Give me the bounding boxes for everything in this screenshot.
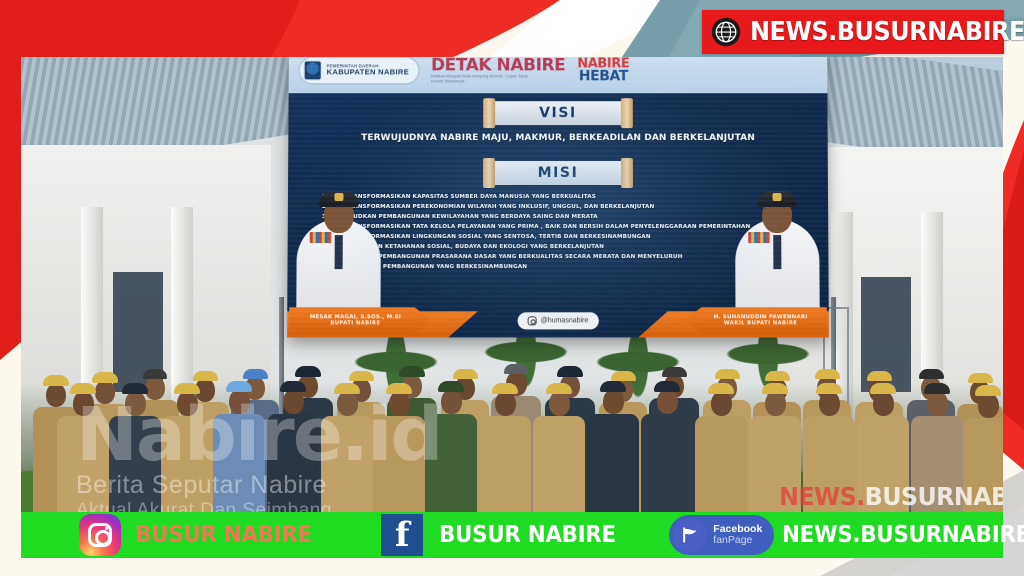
globe-icon	[711, 17, 741, 47]
footer-instagram[interactable]: BUSUR NABIRE	[21, 512, 325, 558]
instagram-icon	[528, 316, 537, 325]
wakil-bupati-portrait	[734, 165, 821, 315]
site-brand-bar: NEWS.BUSURNABIRE.ID	[702, 10, 1004, 54]
fanpage-site-label: NEWS.BUSURNABIRE.ID	[782, 522, 1024, 548]
misi-label: MISI	[538, 165, 579, 181]
instagram-icon[interactable]	[79, 514, 121, 556]
bupati-name-plate: MESAK MAGAI, S.SOS., M.SI BUPATI NABIRE	[289, 307, 432, 333]
wakil-bupati-name-plate: H. SUHANUDDIN PAWENNARI WAKIL BUPATI NAB…	[684, 307, 827, 333]
visi-statement: TERWUJUDNYA NABIRE MAJU, MAKMUR, BERKEAD…	[294, 132, 823, 143]
visi-label: VISI	[539, 105, 577, 121]
misi-item: 5. MENTRANSFORMASIKAN LINGKUNGAN SOSIAL …	[322, 233, 799, 242]
misi-list: 1. MENTRANSFORMASIKAN KAPASITAS SUMBER D…	[322, 193, 799, 273]
facebook-fanpage-icon	[673, 518, 707, 552]
banner-header-strip: PEMERINTAH DAERAH KABUPATEN NABIRE DETAK…	[289, 57, 828, 93]
kabupaten-line2: KABUPATEN NABIRE	[327, 69, 409, 77]
footer-facebook-fanpage[interactable]: Facebook fanPage NEWS.BUSURNABIRE.ID	[629, 512, 1024, 558]
footer-facebook[interactable]: f BUSUR NABIRE	[325, 512, 629, 558]
misi-item: 6. MENINGKATKAN KETAHANAN SOSIAL, BUDAYA…	[322, 243, 799, 252]
facebook-page-label: BUSUR NABIRE	[439, 522, 616, 548]
officials-group-photo	[21, 342, 1003, 512]
misi-item: 3. MEWUJUDKAN PEMBANGUNAN KEWILAYAHAN YA…	[322, 213, 798, 222]
visi-label-scroll: VISI	[492, 101, 624, 125]
screenshot-root: NEWS.BUSURNABIRE.ID	[0, 0, 1024, 576]
misi-item: 8. MEMANTAPKAN PEMBANGUNAN YANG BERKESIN…	[322, 263, 799, 272]
bupati-portrait	[295, 165, 382, 315]
misi-item: 1. MENTRANSFORMASIKAN KAPASITAS SUMBER D…	[322, 193, 798, 202]
tagline-line2: HEBAT	[577, 70, 629, 83]
misi-item: 4. MENTRANSFORMASIKAN TATA KELOLA PELAYA…	[322, 223, 798, 232]
bupati-role: BUPATI NABIRE	[330, 320, 380, 326]
tagline-block: NABIRE HEBAT	[577, 58, 629, 83]
misi-label-scroll: MISI	[492, 161, 624, 185]
wakil-bupati-role: WAKIL BUPATI NABIRE	[724, 320, 798, 326]
news-photo: PEMERINTAH DAERAH KABUPATEN NABIRE DETAK…	[21, 57, 1003, 512]
kabupaten-crest-icon	[304, 60, 322, 80]
program-subtitle: Dedikasi Melayani Anak Kampung Tercinta …	[431, 74, 541, 84]
program-title: DETAK NABIRE	[431, 57, 565, 74]
banner-instagram-pill: @humasnabire	[518, 312, 599, 329]
misi-item: 2. MENTRANSFORMASIKAN PEREKONOMIAN WILAY…	[322, 203, 798, 212]
kabupaten-logo-pill: PEMERINTAH DAERAH KABUPATEN NABIRE	[299, 57, 419, 84]
misi-item: 7. MEWUJUDKAN PEMBANGUNAN PRASARANA DASA…	[322, 253, 799, 262]
fanpage-badge-line2: fanPage	[713, 535, 762, 546]
facebook-icon[interactable]: f	[381, 514, 423, 556]
banner-instagram-handle: @humasnabire	[541, 317, 589, 324]
instagram-handle-label: BUSUR NABIRE	[135, 522, 312, 548]
flag-icon	[680, 525, 700, 545]
social-footer-bar: BUSUR NABIRE f BUSUR NABIRE Facebook fan…	[21, 512, 1003, 558]
site-brand-text: NEWS.BUSURNABIRE.ID	[750, 17, 1024, 47]
facebook-fanpage-badge[interactable]: Facebook fanPage	[669, 515, 774, 555]
visi-misi-banner: PEMERINTAH DAERAH KABUPATEN NABIRE DETAK…	[287, 57, 829, 337]
